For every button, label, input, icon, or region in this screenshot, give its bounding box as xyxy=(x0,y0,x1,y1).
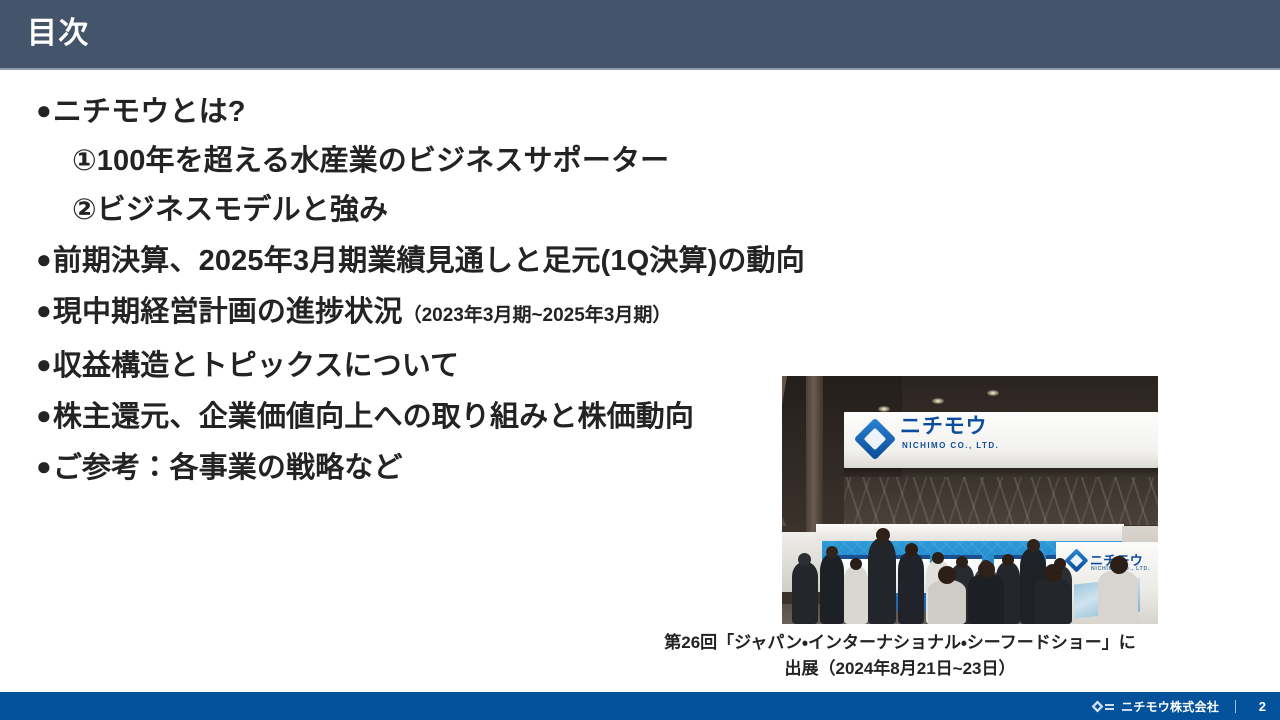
agenda-item-note: （2023年3月期~2025年3月期） xyxy=(403,305,672,326)
agenda-item-label: 収益構造とトピックスについて xyxy=(53,350,459,382)
booth-sign-shadow xyxy=(844,468,1158,477)
footer-company-name: ニチモウ株式会社 xyxy=(1121,698,1219,715)
visitor-figure xyxy=(1034,578,1072,624)
visitor-figure xyxy=(928,580,966,624)
agenda-subitem: ①100年を超える水産業のビジネスサポーター xyxy=(0,137,800,186)
bullet-icon: ● xyxy=(36,295,52,325)
photo-scene: ニチモウ NICHIMO CO., LTD. ニチモウ NICHIMO CO.,… xyxy=(782,376,1158,624)
visitor-head xyxy=(932,552,944,564)
visitor-figure xyxy=(844,566,868,624)
visitor-head xyxy=(1027,539,1040,552)
photo-caption-line-2: 出展（2024年8月21日~23日） xyxy=(640,656,1160,682)
agenda-item: ●前期決算、2025年3月期業績見通しと足元(1Q決算)の動向 xyxy=(0,235,800,286)
agenda-item: ●株主還元、企業価値向上への取り組みと株価動向 xyxy=(0,391,800,442)
visitor-head xyxy=(876,528,890,542)
spotlight-icon xyxy=(932,398,944,404)
visitor-head xyxy=(826,546,838,558)
slide-header: 目次 xyxy=(0,0,1280,70)
hall-pillar xyxy=(806,376,823,548)
visitor-figure xyxy=(868,538,896,624)
agenda-item: ●ご参考：各事業の戦略など xyxy=(0,442,800,493)
agenda-list: ●ニチモウとは? ①100年を超える水産業のビジネスサポーター ②ビジネスモデル… xyxy=(0,86,800,493)
slide-footer: ニチモウ株式会社 2 xyxy=(0,692,1280,720)
visitor-head xyxy=(798,553,811,566)
booth-sign-sub: NICHIMO CO., LTD. xyxy=(902,442,999,450)
booth-sign-main: ニチモウ xyxy=(900,416,987,437)
visitor-head xyxy=(1110,556,1128,574)
page-title: 目次 xyxy=(27,19,89,49)
footer-branding: ニチモウ株式会社 2 xyxy=(1092,692,1266,720)
agenda-subitem-label: ②ビジネスモデルと強み xyxy=(72,194,388,226)
bullet-icon: ● xyxy=(36,95,52,125)
bullet-icon: ● xyxy=(36,349,52,379)
visitor-head xyxy=(1044,564,1062,582)
visitor-head xyxy=(978,561,995,578)
agenda-item-label: ご参考：各事業の戦略など xyxy=(53,452,403,484)
booth-photo: ニチモウ NICHIMO CO., LTD. ニチモウ NICHIMO CO.,… xyxy=(782,376,1158,624)
hall-ceiling-structure xyxy=(844,477,1158,525)
visitor-figure xyxy=(820,554,844,624)
footer-separator xyxy=(1235,700,1236,713)
agenda-item-label: ニチモウとは? xyxy=(53,96,246,128)
agenda-item: ●現中期経営計画の進捗状況（2023年3月期~2025年3月期） xyxy=(0,286,800,340)
page-number: 2 xyxy=(1252,699,1266,714)
visitor-figure xyxy=(898,552,924,624)
photo-caption: 第26回「ジャパン・インターナショナル・シーフードショー」に 出展（2024年8… xyxy=(640,630,1160,682)
agenda-item-label: 前期決算、2025年3月期業績見通しと足元(1Q決算)の動向 xyxy=(53,245,805,277)
agenda-item: ●ニチモウとは? xyxy=(0,86,800,137)
visitor-figure xyxy=(968,574,1004,624)
nichimo-logo-icon xyxy=(1092,701,1114,712)
photo-caption-line-1: 第26回「ジャパン・インターナショナル・シーフードショー」に xyxy=(640,630,1160,656)
spotlight-icon xyxy=(987,390,999,396)
agenda-item: ●収益構造とトピックスについて xyxy=(0,340,800,391)
agenda-item-label: 現中期経営計画の進捗状況 xyxy=(53,296,403,328)
visitor-figure xyxy=(1098,570,1138,624)
visitor-figure xyxy=(792,562,818,624)
visitor-head xyxy=(1002,554,1014,566)
agenda-subitem: ②ビジネスモデルと強み xyxy=(0,186,800,235)
agenda-item-label: 株主還元、企業価値向上への取り組みと株価動向 xyxy=(53,401,694,433)
bullet-icon: ● xyxy=(36,244,52,274)
visitor-head xyxy=(956,556,968,568)
bullet-icon: ● xyxy=(36,451,52,481)
bullet-icon: ● xyxy=(36,400,52,430)
visitor-head xyxy=(938,566,956,584)
visitor-head xyxy=(905,543,918,556)
booth-fascia xyxy=(816,524,1124,541)
agenda-subitem-label: ①100年を超える水産業のビジネスサポーター xyxy=(72,145,669,177)
visitor-head xyxy=(850,558,862,570)
